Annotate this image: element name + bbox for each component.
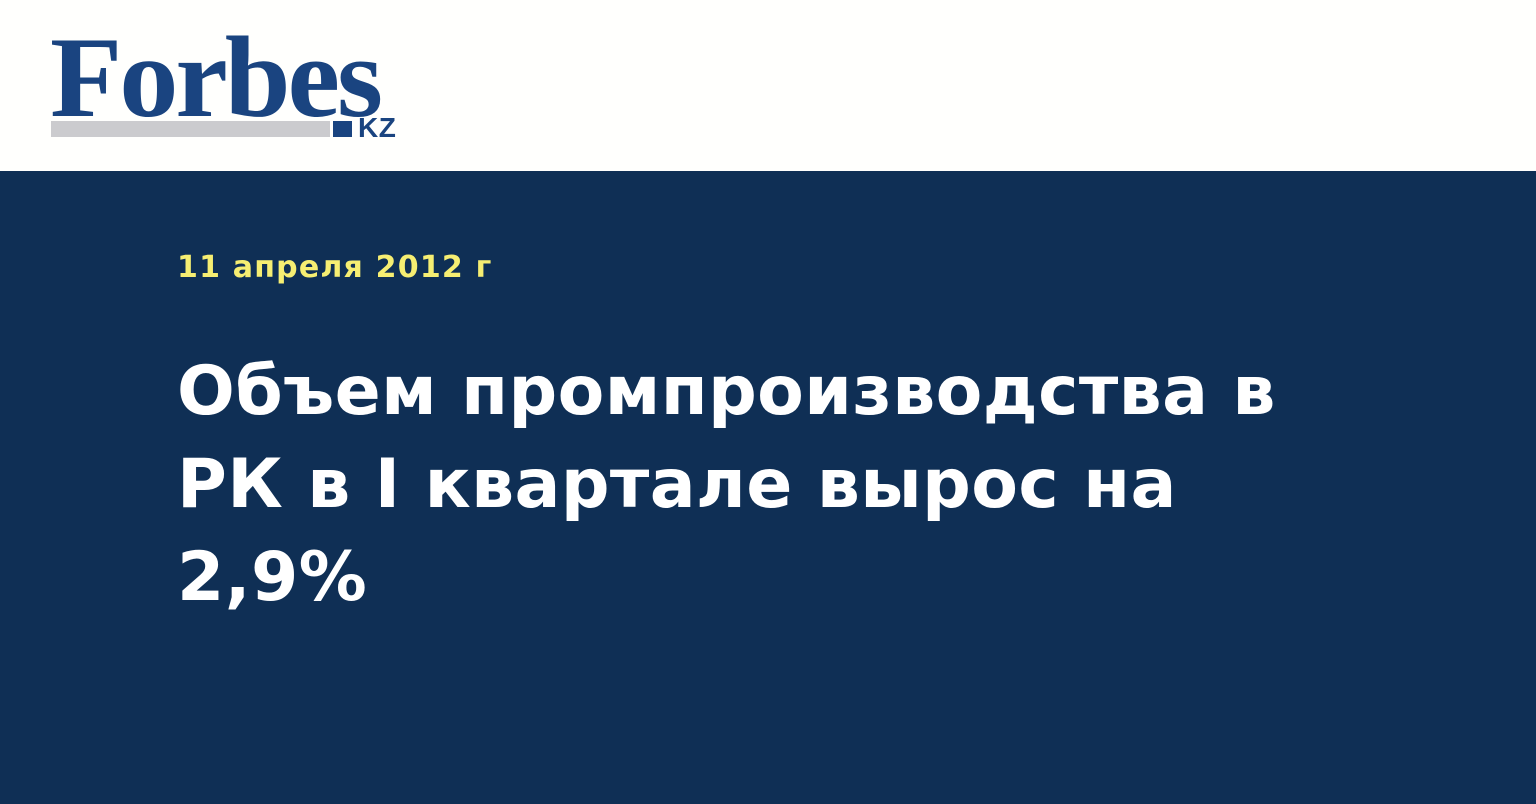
logo-rule [51,121,330,137]
forbes-kz-logo[interactable]: Forbes KZ [50,24,406,145]
site-header: Forbes KZ [0,0,1536,171]
article-hero: 11 апреля 2012 г Объем промпроизводства … [0,171,1536,804]
article-title: Объем промпроизводства в РК в I квартале… [177,345,1387,624]
article-date: 11 апреля 2012 г [177,251,492,285]
article-card: Forbes KZ 11 апреля 2012 г Объем промпро… [0,0,1536,804]
logo-wordmark: Forbes [50,24,380,132]
logo-suffix-kz: KZ [358,116,396,140]
logo-square-icon [333,121,352,137]
